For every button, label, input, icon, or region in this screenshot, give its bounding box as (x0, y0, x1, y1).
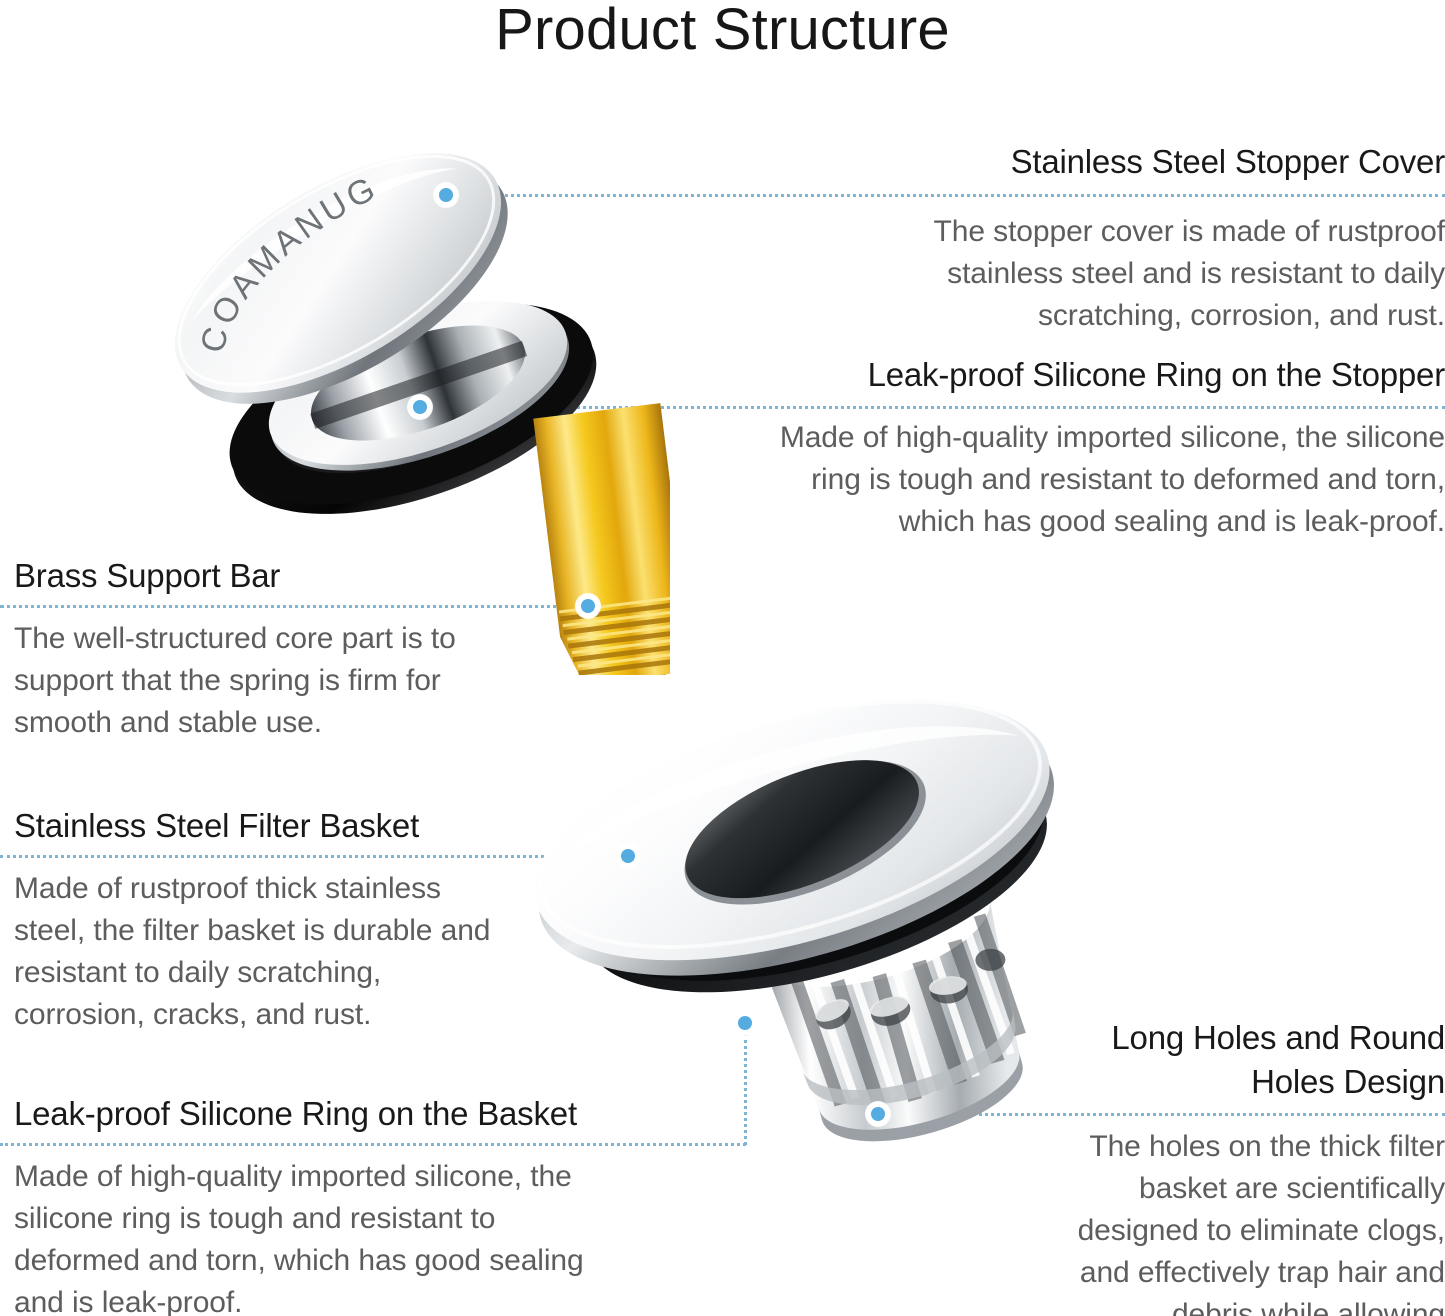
callout-title-filter-basket: Stainless Steel Filter Basket (14, 806, 514, 846)
node-dot-stopper-cover (434, 183, 458, 207)
product-structure-infographic: Product Structure (0, 0, 1445, 1316)
page-title: Product Structure (0, 0, 1445, 64)
callout-filter-basket: Stainless Steel Filter Basket Made of ru… (14, 806, 514, 1036)
callout-body-stopper-cover: The stopper cover is made of rustproof s… (845, 211, 1445, 337)
node-dot-silicone-ring-stopper (408, 395, 432, 419)
node-dot-brass-support-bar (576, 594, 600, 618)
node-dot-holes-design (866, 1102, 890, 1126)
callout-body-silicone-ring-stopper: Made of high-quality imported silicone, … (745, 417, 1445, 543)
callout-body-filter-basket: Made of rustproof thick stainless steel,… (14, 868, 514, 1036)
node-dot-filter-basket (616, 844, 640, 868)
stopper-assembly-image: COAMANUG (150, 95, 670, 675)
callout-stopper-cover: Stainless Steel Stopper Cover The stoppe… (845, 142, 1445, 337)
node-dot-silicone-ring-basket (733, 1011, 757, 1035)
callout-title-silicone-ring-stopper: Leak-proof Silicone Ring on the Stopper (745, 355, 1445, 395)
callout-title-stopper-cover: Stainless Steel Stopper Cover (845, 142, 1445, 182)
callout-silicone-ring-stopper: Leak-proof Silicone Ring on the Stopper … (745, 355, 1445, 543)
